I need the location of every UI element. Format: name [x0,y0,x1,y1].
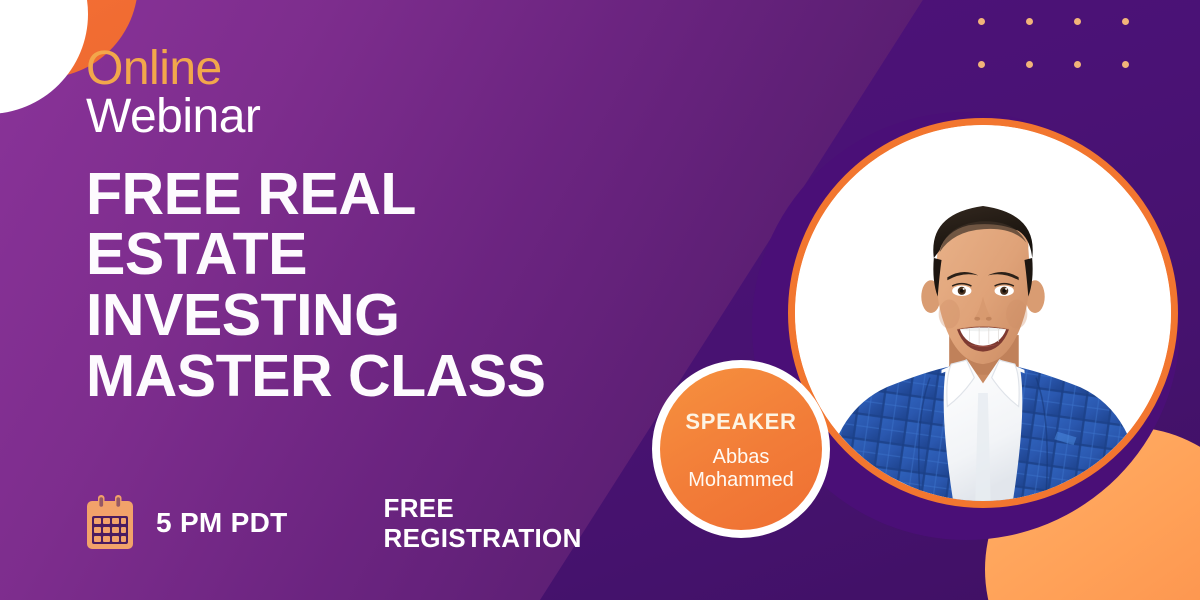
page-title: Free Real Estate Investing Master Class [86,164,686,407]
speaker-name: Abbas Mohammed [688,446,794,491]
top-left-white-circle-decoration [0,0,88,114]
banner-info-row: 5 PM PDT Free Registration [84,493,582,554]
speaker-name-line-1: Abbas [688,446,794,468]
speaker-portrait-frame [788,118,1178,508]
speaker-badge-title: SPEAKER [685,411,796,433]
eyebrow-webinar: Webinar [86,93,686,142]
event-time: 5 PM PDT [156,507,288,539]
webinar-banner: SPEAKER Abbas Mohammed Online Webinar Fr… [0,0,1200,600]
event-time-group: 5 PM PDT [84,495,288,551]
headline-line-1: Free Real [86,164,686,225]
headline-line-4: Master Class [86,346,686,407]
speaker-name-line-2: Mohammed [688,469,794,491]
registration-label: Free Registration [384,493,582,554]
speaker-artwork: SPEAKER Abbas Mohammed [640,0,1200,600]
registration-line-2: Registration [384,523,582,554]
headline-line-2: Estate [86,224,686,285]
eyebrow-online: Online [86,46,686,93]
banner-text-content: Online Webinar Free Real Estate Investin… [86,46,686,407]
registration-line-1: Free [384,493,582,524]
calendar-icon [84,495,136,551]
speaker-portrait-image [795,125,1171,501]
headline-line-3: Investing [86,285,686,346]
